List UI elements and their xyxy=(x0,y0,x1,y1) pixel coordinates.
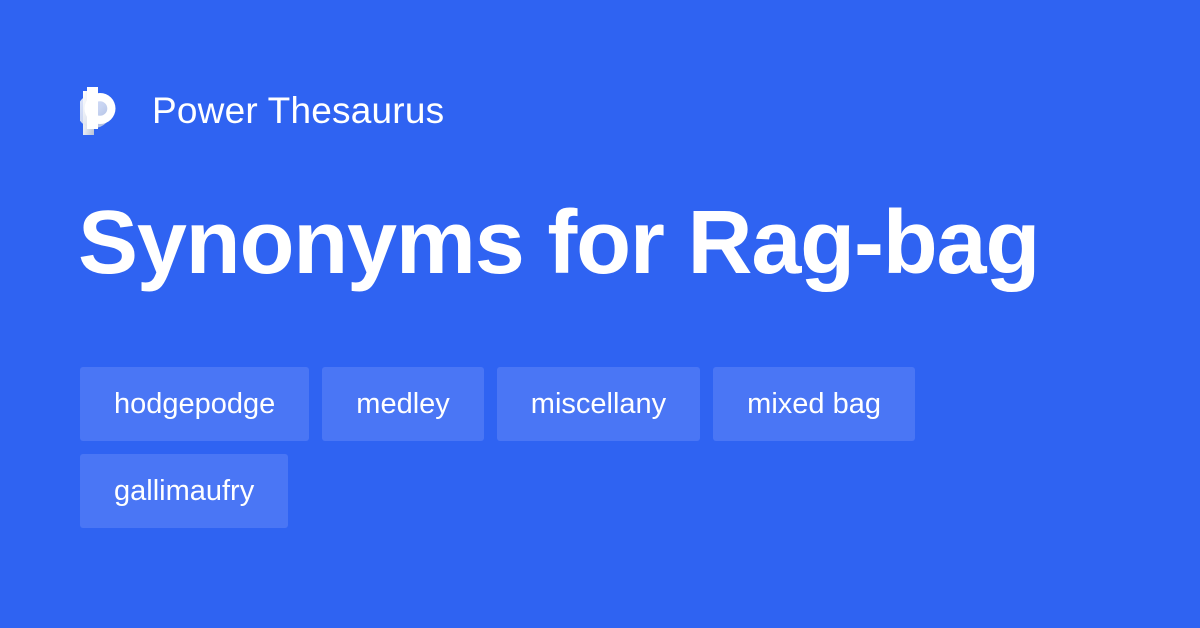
brand-header[interactable]: Power Thesaurus xyxy=(80,82,444,138)
synonym-chip[interactable]: medley xyxy=(322,367,484,441)
synonym-chip[interactable]: hodgepodge xyxy=(80,367,309,441)
synonym-chip[interactable]: gallimaufry xyxy=(80,454,288,528)
synonym-chip-list: hodgepodgemedleymiscellanymixed baggalli… xyxy=(80,367,1120,528)
brand-name: Power Thesaurus xyxy=(152,92,444,129)
page-title: Synonyms for Rag-bag xyxy=(78,196,1039,291)
synonym-chip[interactable]: mixed bag xyxy=(713,367,915,441)
synonym-chip[interactable]: miscellany xyxy=(497,367,700,441)
power-thesaurus-b-logo-icon xyxy=(80,85,124,135)
share-card: Power Thesaurus Synonyms for Rag-bag hod… xyxy=(0,0,1200,628)
